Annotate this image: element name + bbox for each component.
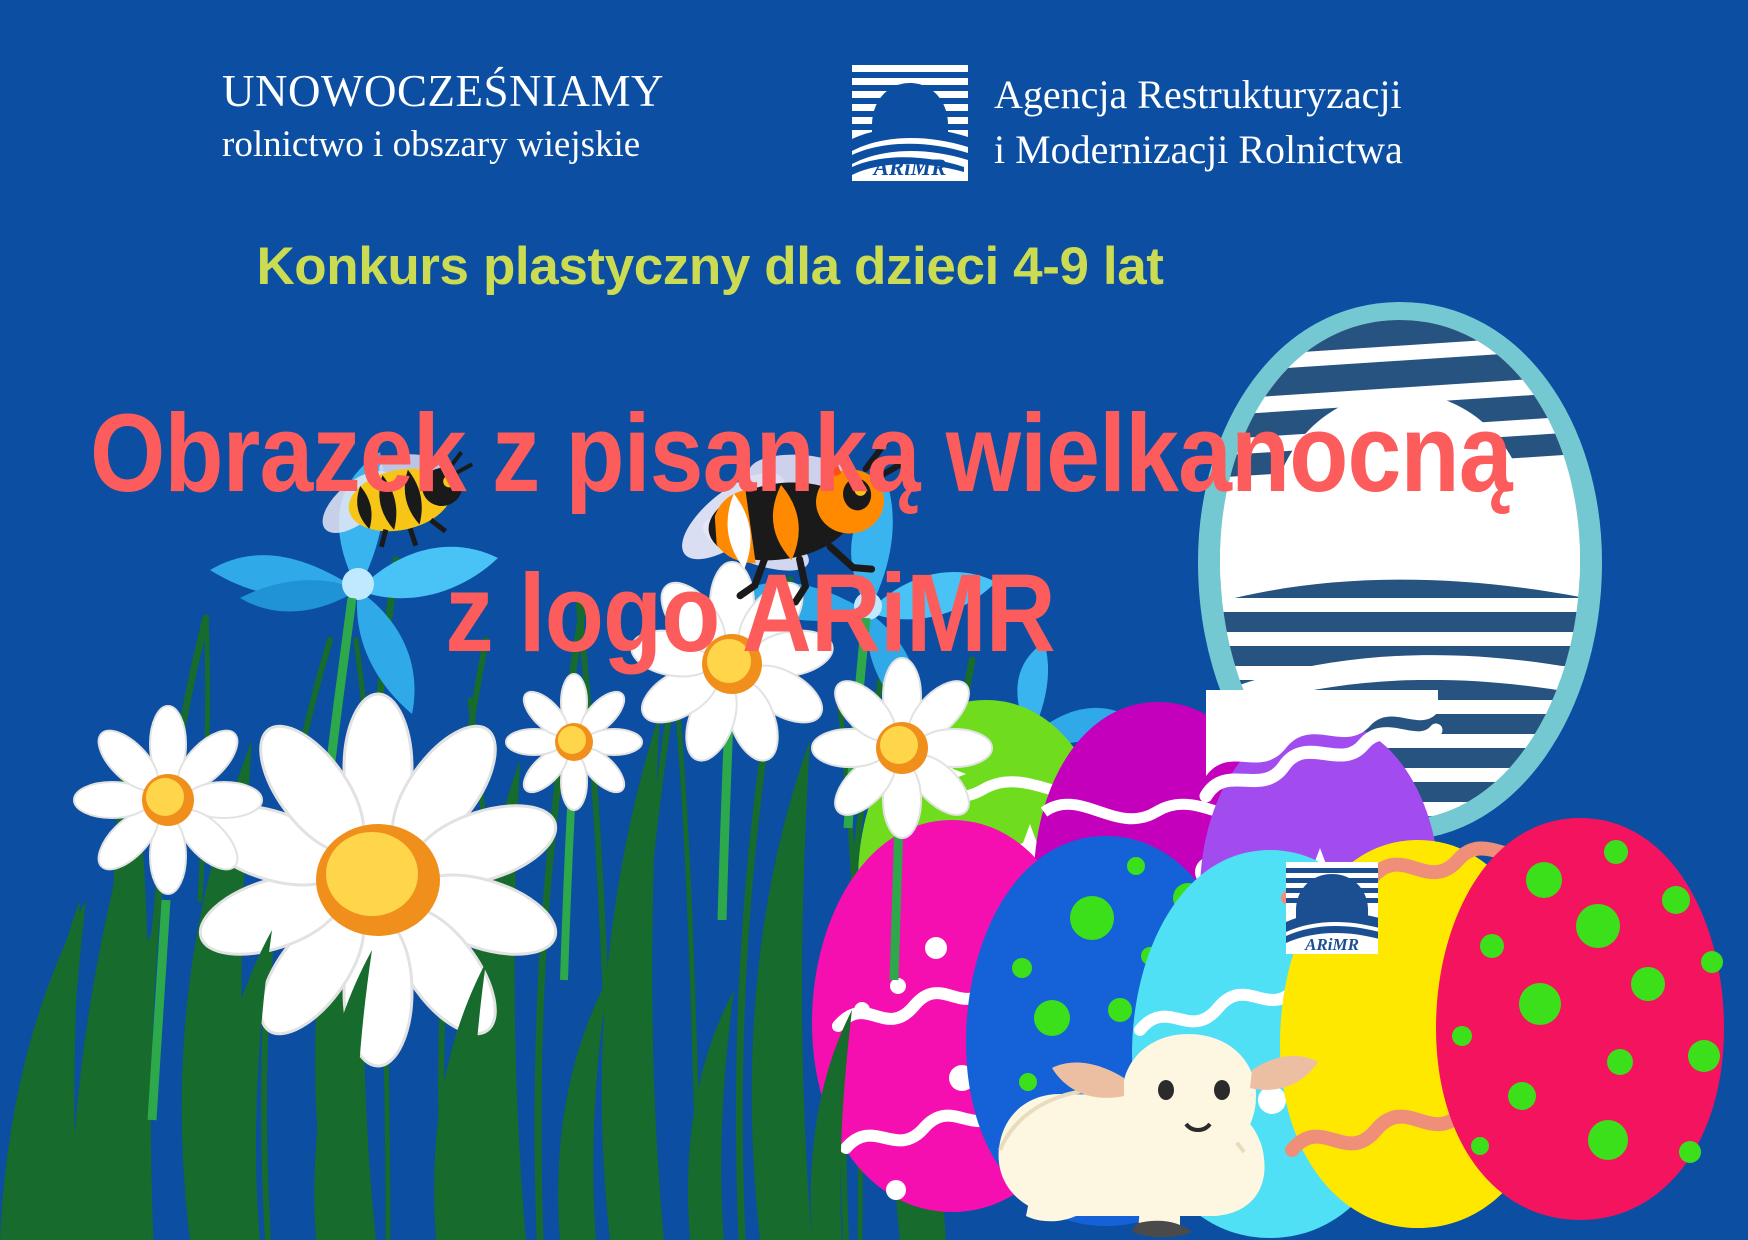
brand-name-line-1: Agencja Restrukturyzacji [994,67,1403,122]
badge-arimr-text: ARiMR [1304,935,1359,954]
brand-block: ARiMR Agencja Restrukturyzacji i Moderni… [852,65,1403,181]
contest-title: Obrazek z pisanką wielkanocną z logo ARi… [90,374,1410,694]
arimr-badge-on-yellow-egg: ARiMR [1286,862,1386,954]
arimr-logo-icon: ARiMR [852,65,968,181]
arimr-wordmark: ARiMR [872,155,947,180]
contest-title-line-2: z logo ARiMR [90,534,1410,694]
poster: ARiMR [0,0,1748,1240]
slogan-line-2: rolnictwo i obszary wiejskie [222,120,782,170]
brand-name-line-2: i Modernizacji Rolnictwa [994,122,1403,177]
lamb-eye-right [1214,1080,1230,1100]
contest-subtitle: Konkurs plastyczny dla dzieci 4-9 lat [0,236,1420,297]
slogan-line-1: UNOWOCZEŚNIAMY [222,62,782,120]
contest-title-line-1: Obrazek z pisanką wielkanocną [90,374,1410,534]
slogan: UNOWOCZEŚNIAMY rolnictwo i obszary wiejs… [222,62,782,170]
brand-name: Agencja Restrukturyzacji i Modernizacji … [994,65,1403,177]
lamb-eye-left [1158,1080,1174,1100]
crimson-egg [1436,818,1724,1220]
